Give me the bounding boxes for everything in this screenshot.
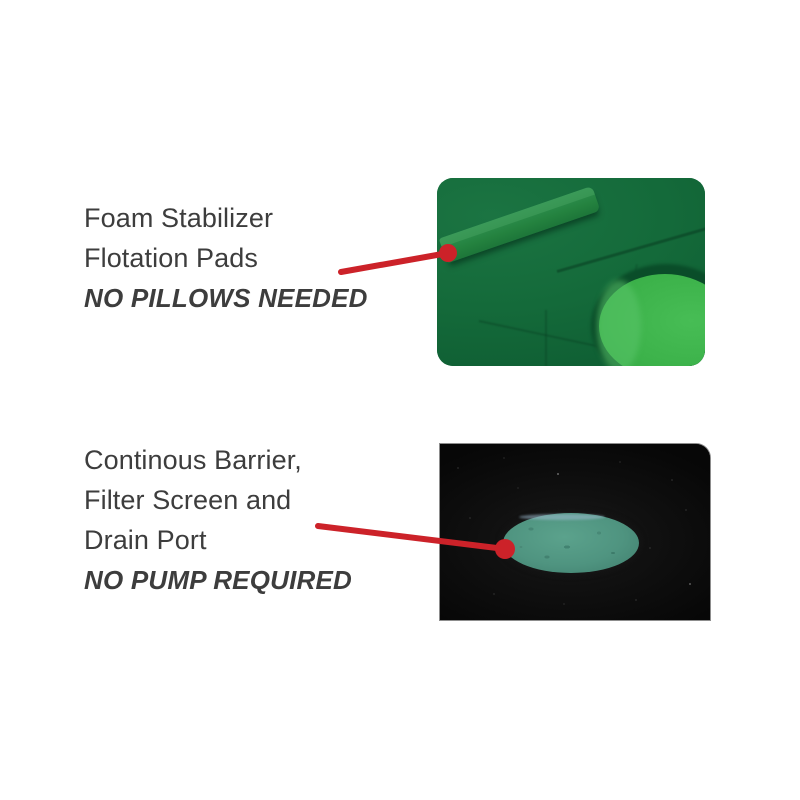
- tank-seam-line: [545, 310, 547, 366]
- leader-line-layer: [0, 0, 800, 800]
- callout-line: Drain Port: [84, 520, 352, 560]
- callout-drain-port-text: Continous Barrier, Filter Screen and Dra…: [84, 440, 352, 600]
- callout-line: Flotation Pads: [84, 238, 368, 278]
- callout-emphasis: NO PUMP REQUIRED: [84, 560, 352, 600]
- foam-stabilizer-flotation-pad-photo: [437, 178, 705, 366]
- callout-line: Continous Barrier,: [84, 440, 352, 480]
- drain-port-filter-screen-photo: [440, 444, 710, 620]
- callout-line: Foam Stabilizer: [84, 198, 368, 238]
- callout-emphasis: NO PILLOWS NEEDED: [84, 278, 368, 318]
- drain-port-rim-highlight: [519, 514, 605, 520]
- drain-port-opening: [503, 513, 639, 573]
- filter-screen-texture: [503, 513, 639, 573]
- callout-line: Filter Screen and: [84, 480, 352, 520]
- bright-green-bladder: [599, 274, 705, 366]
- diagram-canvas: Foam Stabilizer Flotation Pads NO PILLOW…: [0, 0, 800, 800]
- callout-foam-stabilizer-text: Foam Stabilizer Flotation Pads NO PILLOW…: [84, 198, 368, 318]
